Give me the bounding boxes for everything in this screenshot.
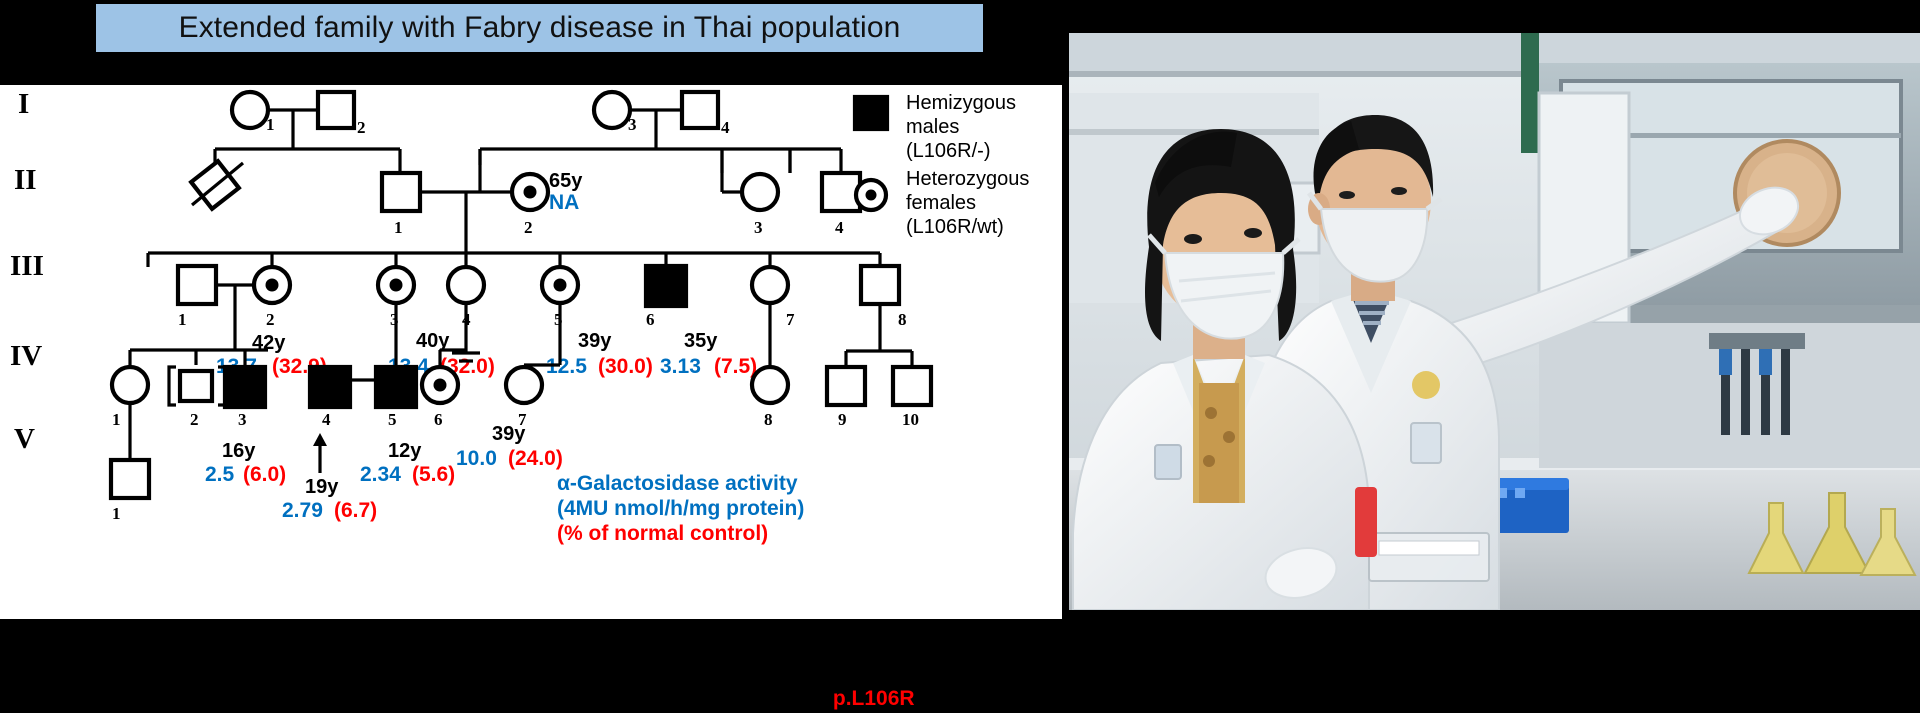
legend-hemizygous-line2: males [906,116,959,138]
proband-arrow-icon [313,433,327,473]
label-percent-IV-5: (5.6) [412,463,455,486]
number-II-4: 4 [835,218,844,237]
legend-hemizygous-symbol [855,97,887,129]
legend-heterozygous-line2: females [906,192,976,214]
number-I-4: 4 [721,118,730,137]
symbol-III-6-affected-male [646,266,686,306]
label-age-IV-3: 16y [222,440,256,462]
number-IV-5: 5 [388,410,397,429]
label-activity-IV-5: 2.34 [360,463,401,486]
symbol-II-1-deceased [191,161,243,209]
number-II-2: 2 [524,218,533,237]
generation-label-V: V [14,423,35,455]
generation-label-IV: IV [10,340,42,372]
symbol-IV-6-carrier-female [422,367,458,403]
symbol-I-1-female [232,92,268,128]
green-pillar [1521,33,1539,153]
slide-title-banner: Extended family with Fabry disease in Th… [96,4,983,52]
label-activity-IV-7: 10.0 [456,447,497,470]
symbol-I-4-male [682,92,718,128]
number-V-1: 1 [112,504,121,523]
label-activity-III-6: 3.13 [660,355,701,378]
caption-text: Genomic DNA and cDNA sequencing of the G… [10,655,1050,713]
caption-line1-a: Genomic DNA and cDNA sequencing of the [10,657,431,681]
pedigree-chart-panel: .ln { stroke:#000; stroke-width:3.2; fil… [0,85,1062,619]
number-IV-2: 2 [190,410,199,429]
label-activity-IV-3: 2.5 [205,463,235,486]
generation-label-II: II [14,164,37,196]
caption-line-2: 377 (c.377T>G) in exon 2 resulting in su… [10,684,1050,713]
symbol-III-4-female [448,267,484,303]
number-III-8: 8 [898,310,907,329]
symbol-IV-7-female [506,367,542,403]
legend-hemizygous-line3: (L106R/-) [906,140,990,162]
symbol-II-3-female [742,174,778,210]
activity-key-line2: (4MU nmol/h/mg protein) [557,497,804,520]
number-I-1: 1 [266,115,275,134]
number-I-2: 2 [357,118,366,137]
symbol-IV-1-female [112,367,148,403]
caption-line-1: Genomic DNA and cDNA sequencing of the G… [10,655,1050,684]
symbol-IV-10-male [893,367,931,405]
number-IV-9: 9 [838,410,847,429]
number-III-6: 6 [646,310,655,329]
legend-hemizygous-line1: Hemizygous [906,92,1016,114]
caption-line2-a: 377 (c.377T>G) in exon 2 resulting in su… [10,686,833,710]
symbol-I-3-female [594,92,630,128]
label-age-IV-4: 19y [305,476,339,498]
generation-label-I: I [18,88,29,120]
red-tube [1355,487,1377,557]
symbol-IV-3-affected-male [225,367,265,407]
laboratory-photo [1069,33,1920,610]
legend-heterozygous-symbol [856,180,886,210]
caption-line1-b: gene showed a T-to-G transversion at nuc… [474,657,943,681]
symbol-III-1-male [178,266,216,304]
label-percent-III-5: (30.0) [598,355,653,378]
number-IV-6: 6 [434,410,443,429]
number-II-1: 1 [394,218,403,237]
sample-rack-foreground [1369,533,1489,581]
number-IV-10: 10 [902,410,919,429]
symbol-II-1-male [382,173,420,211]
symbol-I-2-male [318,92,354,128]
number-IV-1: 1 [112,410,121,429]
lab-photo-illustration [1069,33,1920,610]
symbol-III-2-carrier-female [254,267,290,303]
label-percent-IV-7: (24.0) [508,447,563,470]
label-age-IV-5: 12y [388,440,422,462]
symbol-IV-5-affected-male [376,367,416,407]
label-activity-II-2: NA [549,191,579,214]
label-age-II-2: 65y [549,170,583,192]
symbol-III-3-carrier-female [378,267,414,303]
number-IV-4: 4 [322,410,331,429]
symbol-III-5-carrier-female [542,267,578,303]
activity-key-line3: (% of normal control) [557,522,768,545]
page-title: Extended family with Fabry disease in Th… [179,11,901,45]
number-IV-3: 3 [238,410,247,429]
label-percent-IV-4: (6.7) [334,499,377,522]
number-III-2: 2 [266,310,275,329]
symbol-IV-8-female [752,367,788,403]
number-III-1: 1 [178,310,187,329]
number-I-3: 3 [628,115,637,134]
symbol-IV-4-affected-male-proband [310,367,350,407]
number-IV-8: 8 [764,410,773,429]
number-III-7: 7 [786,310,795,329]
symbol-III-7-female [752,267,788,303]
label-activity-IV-4: 2.79 [282,499,323,522]
activity-key-line1: α-Galactosidase activity [557,472,798,495]
symbol-II-2-carrier-female [512,174,548,210]
legend-heterozygous-line3: (L106R/wt) [906,216,1004,238]
symbol-III-8-male [861,266,899,304]
label-percent-IV-3: (6.0) [243,463,286,486]
label-age-IV-7: 39y [492,423,526,445]
symbol-IV-9-male [827,367,865,405]
pedigree-diagram: .ln { stroke:#000; stroke-width:3.2; fil… [0,85,1062,645]
generation-label-III: III [10,250,44,282]
label-age-III-6: 35y [684,330,718,352]
caption-gene-name: GLA [431,657,474,681]
label-age-III-5: 39y [578,330,612,352]
caption-mutation: p.L106R [833,687,915,710]
legend-heterozygous-line1: Heterozygous [906,168,1029,190]
symbol-V-1-male [111,460,149,498]
number-II-3: 3 [754,218,763,237]
label-percent-III-6: (7.5) [714,355,757,378]
